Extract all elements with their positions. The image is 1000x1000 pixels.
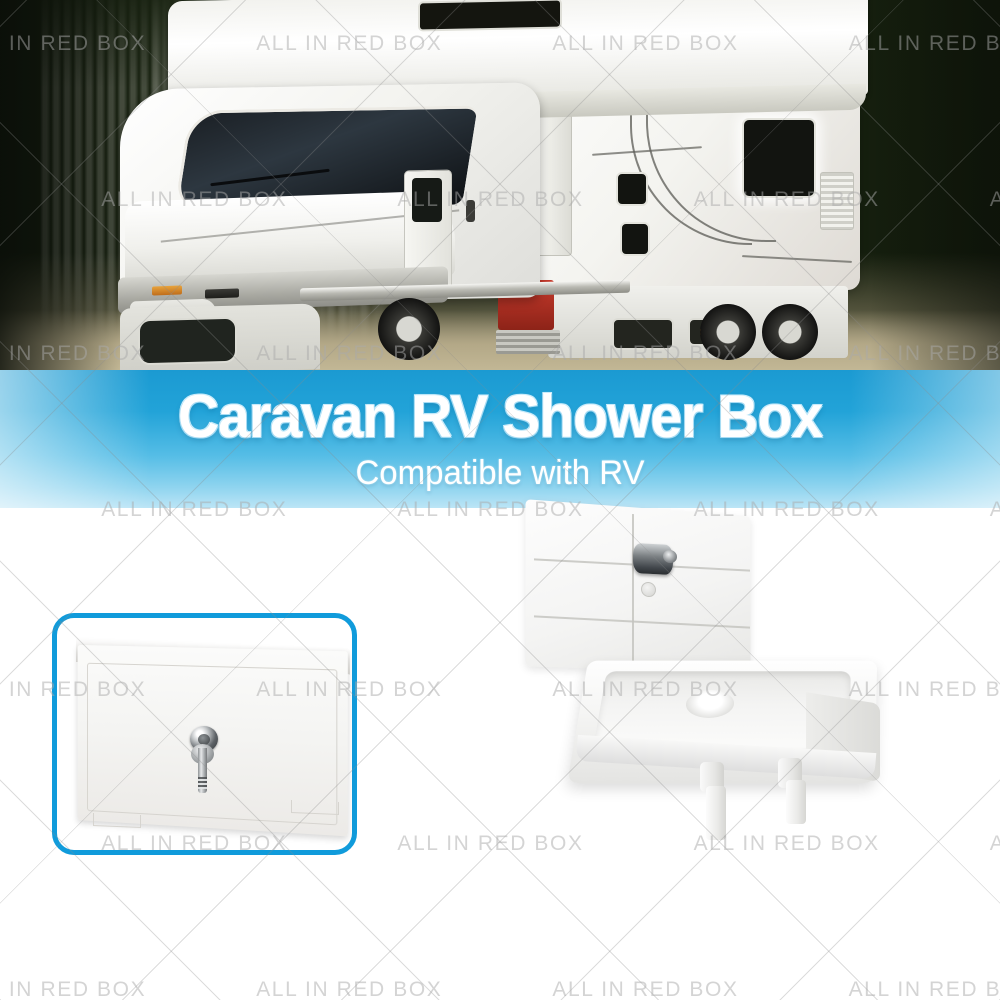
lid-seam: [632, 514, 634, 664]
rv-vent-grille: [820, 172, 854, 230]
rv-storage-hatch: [612, 318, 674, 350]
key-blade: [198, 748, 207, 793]
shower-box-lid: [525, 499, 750, 673]
rv-marker-light: [205, 288, 239, 298]
rv-entry-door: [536, 104, 572, 256]
rv-wheel: [378, 298, 440, 360]
banner-subtitle: Compatible with RV: [15, 454, 985, 493]
rv-window: [742, 118, 816, 198]
rv-cab-door-window: [412, 178, 442, 222]
rv-marker-light: [152, 285, 182, 295]
lid-lock-cam: [663, 550, 677, 564]
lid-center-hub: [641, 582, 656, 598]
door-notch: [291, 800, 339, 815]
rv-window: [620, 222, 650, 256]
door-notch: [93, 813, 141, 828]
closed-door-inset: [52, 613, 357, 855]
product-listing-image: Caravan RV Shower Box Compatible with RV: [0, 0, 1000, 1000]
rv-step: [496, 330, 560, 354]
hero-vignette-right: [870, 0, 1000, 372]
banner-title: Caravan RV Shower Box: [25, 382, 975, 451]
hero-vignette-left: [0, 0, 120, 372]
rv-cab-handle: [466, 200, 475, 222]
rv-window: [616, 172, 648, 206]
rv-wheel: [700, 304, 756, 360]
basin-spigot: [706, 786, 726, 840]
basin-spigot: [786, 780, 806, 824]
rv-wheel: [762, 304, 818, 360]
hero-photo: [0, 0, 1000, 372]
rv-motorhome: [0, 0, 1000, 372]
rv-overcab-window: [418, 0, 562, 32]
product-photo-area: [0, 508, 1000, 1000]
title-banner: Caravan RV Shower Box Compatible with RV: [0, 370, 1000, 508]
rv-lower-window: [138, 317, 237, 366]
